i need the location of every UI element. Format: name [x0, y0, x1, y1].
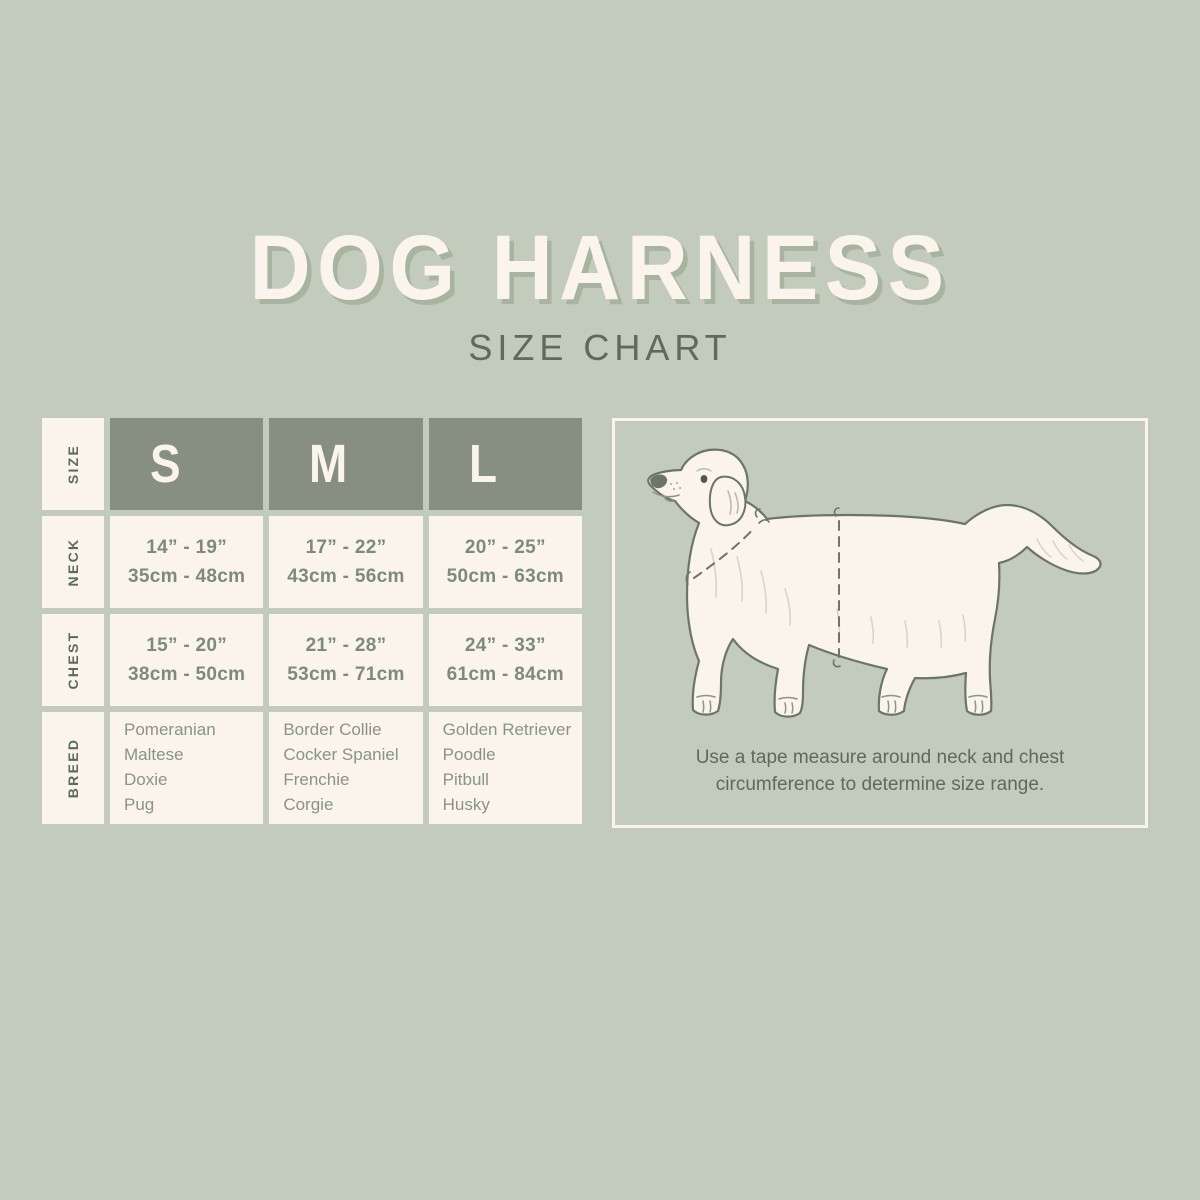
size-chart-table: SIZE S M L NECK 14” - 19” 35cm - 48cm 17… [42, 418, 582, 830]
neck-cell-large: 20” - 25” 50cm - 63cm [429, 516, 582, 608]
neck-medium-cm: 43cm - 56cm [287, 567, 404, 586]
breed-item: Border Collie [283, 719, 422, 742]
chest-large-cm: 61cm - 84cm [447, 665, 564, 684]
table-row-size: SIZE S M L [42, 418, 582, 510]
row-label-neck: NECK [42, 516, 104, 608]
size-letter-s: S [150, 437, 181, 491]
caption-line-1: Use a tape measure around neck and chest [639, 744, 1121, 772]
neck-large-inch: 20” - 25” [465, 538, 546, 557]
chest-cell-large: 24” - 33” 61cm - 84cm [429, 614, 582, 706]
neck-medium-inch: 17” - 22” [306, 538, 387, 557]
neck-cell-medium: 17” - 22” 43cm - 56cm [269, 516, 422, 608]
chest-cell-small: 15” - 20” 38cm - 50cm [110, 614, 263, 706]
panel-caption: Use a tape measure around neck and chest… [615, 744, 1145, 799]
breed-item: Cocker Spaniel [283, 744, 422, 767]
chest-small-inch: 15” - 20” [146, 636, 227, 655]
chest-large-inch: 24” - 33” [465, 636, 546, 655]
breed-cell-small: Pomeranian Maltese Doxie Pug [110, 712, 263, 824]
neck-small-inch: 14” - 19” [146, 538, 227, 557]
row-label-breed-text: BREED [65, 738, 81, 799]
row-label-size-text: SIZE [65, 444, 81, 484]
breed-item: Poodle [443, 744, 582, 767]
row-label-size: SIZE [42, 418, 104, 510]
chest-small-cm: 38cm - 50cm [128, 665, 245, 684]
row-label-neck-text: NECK [65, 538, 81, 587]
breed-item: Frenchie [283, 769, 422, 792]
size-letter-m: M [309, 437, 347, 491]
chest-medium-inch: 21” - 28” [306, 636, 387, 655]
header-cell-medium: M [269, 418, 422, 510]
chest-cell-medium: 21” - 28” 53cm - 71cm [269, 614, 422, 706]
neck-small-cm: 35cm - 48cm [128, 567, 245, 586]
breed-cell-large: Golden Retriever Poodle Pitbull Husky [429, 712, 582, 824]
page-title: DOG HARNESS [48, 222, 1152, 314]
breed-item: Pomeranian [124, 719, 263, 742]
breed-item: Corgie [283, 794, 422, 817]
size-letter-l: L [469, 437, 497, 491]
title-block: DOG HARNESS SIZE CHART [0, 222, 1200, 366]
breed-item: Doxie [124, 769, 263, 792]
table-row-neck: NECK 14” - 19” 35cm - 48cm 17” - 22” 43c… [42, 516, 582, 608]
row-label-chest: CHEST [42, 614, 104, 706]
breed-item: Pug [124, 794, 263, 817]
chest-medium-cm: 53cm - 71cm [287, 665, 404, 684]
table-row-chest: CHEST 15” - 20” 38cm - 50cm 21” - 28” 53… [42, 614, 582, 706]
neck-cell-small: 14” - 19” 35cm - 48cm [110, 516, 263, 608]
breed-item: Golden Retriever [443, 719, 582, 742]
dog-illustration-icon [633, 439, 1133, 739]
row-label-breed: BREED [42, 712, 104, 824]
row-label-chest-text: CHEST [65, 631, 81, 690]
breed-item: Maltese [124, 744, 263, 767]
illustration-panel: Use a tape measure around neck and chest… [612, 418, 1148, 828]
caption-line-2: circumference to determine size range. [639, 771, 1121, 799]
breed-item: Pitbull [443, 769, 582, 792]
neck-large-cm: 50cm - 63cm [447, 567, 564, 586]
page-subtitle: SIZE CHART [0, 330, 1200, 366]
header-cell-large: L [429, 418, 582, 510]
breed-item: Husky [443, 794, 582, 817]
header-cell-small: S [110, 418, 263, 510]
breed-cell-medium: Border Collie Cocker Spaniel Frenchie Co… [269, 712, 422, 824]
table-row-breed: BREED Pomeranian Maltese Doxie Pug Borde… [42, 712, 582, 824]
